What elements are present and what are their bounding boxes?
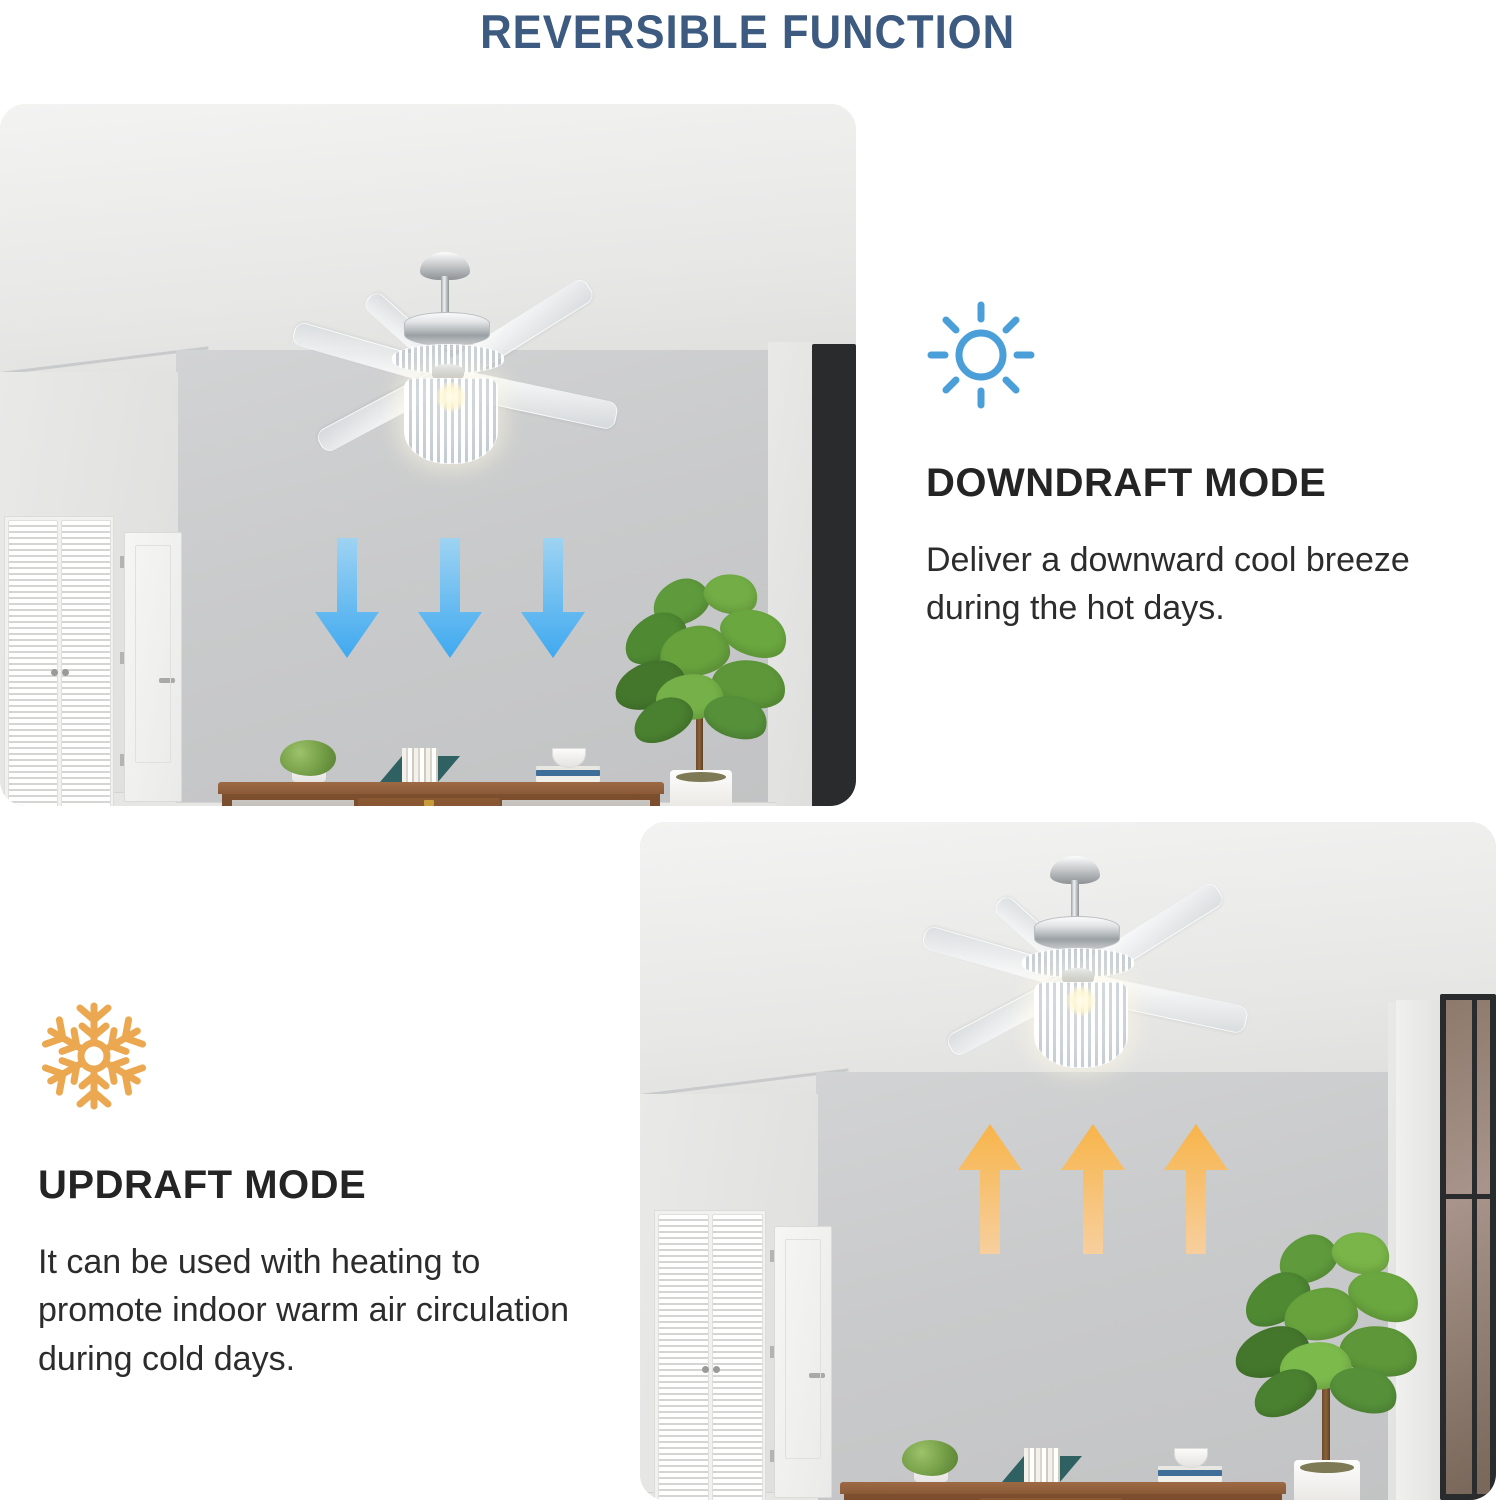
console-open-shelf-left — [232, 800, 354, 806]
closet-knob-right[interactable] — [713, 1366, 720, 1373]
window-mullion — [836, 344, 840, 806]
ceiling-fan — [300, 236, 730, 526]
bookend-left — [1002, 1456, 1024, 1482]
bookend-left — [380, 756, 402, 782]
walnut-console-table — [840, 1482, 1286, 1500]
fan-motor-housing — [404, 312, 490, 346]
louver-leaf-left — [8, 520, 58, 806]
door-hinge-mid — [770, 1346, 774, 1358]
upright-books — [402, 748, 438, 782]
downdraft-arrow-3 — [519, 538, 587, 660]
console-tabletop — [840, 1482, 1286, 1494]
panel-door — [124, 532, 182, 802]
downdraft-heading: DOWNDRAFT MODE — [926, 461, 1426, 506]
plant-soil — [1300, 1462, 1354, 1473]
louvered-closet-doors — [4, 516, 114, 806]
door-lever-handle[interactable] — [159, 678, 175, 683]
louver-leaf-right — [712, 1214, 763, 1500]
fan-motor-housing — [1034, 916, 1120, 950]
tabletop-greenery — [902, 1440, 958, 1476]
door-hinge-mid — [120, 652, 124, 664]
louver-leaf-right — [61, 520, 111, 806]
closet-knob-right[interactable] — [62, 669, 69, 676]
closet-knob-left[interactable] — [51, 669, 58, 676]
updraft-arrow-1 — [956, 1122, 1024, 1256]
bookend-right — [438, 756, 460, 782]
door-hinge-bottom — [120, 754, 124, 766]
updraft-heading: UPDRAFT MODE — [38, 1163, 578, 1208]
louvered-closet-doors — [654, 1210, 766, 1500]
updraft-arrow-3 — [1162, 1122, 1230, 1256]
door-hinge-bottom — [770, 1450, 774, 1462]
tabletop-book-stack — [536, 766, 600, 782]
fan-light-bulb-glow — [1066, 986, 1096, 1016]
room-scene-downdraft — [0, 104, 856, 806]
door-hinge-top — [120, 556, 124, 568]
louver-leaf-left — [658, 1214, 709, 1500]
closet-knob-left[interactable] — [702, 1366, 709, 1373]
window-frame — [1440, 994, 1496, 1500]
door-lever-handle[interactable] — [809, 1373, 825, 1378]
page-title-bar: REVERSIBLE FUNCTION — [0, 0, 1496, 62]
updraft-room-photo — [640, 822, 1496, 1500]
tabletop-greenery — [280, 740, 336, 776]
drawer-pull[interactable] — [424, 800, 434, 806]
console-tabletop — [218, 782, 664, 794]
updraft-info-block: UPDRAFT MODE It can be used with heating… — [38, 1000, 578, 1383]
upright-books — [1024, 1448, 1060, 1482]
downdraft-arrow-1 — [313, 538, 381, 660]
downdraft-body-text: Deliver a downward cool breeze during th… — [926, 536, 1426, 633]
console-open-shelf-right — [502, 800, 650, 806]
window-mullion-horizontal — [1440, 1194, 1496, 1199]
downdraft-arrow-2 — [416, 538, 484, 660]
snowflake-icon — [38, 1000, 578, 1117]
book — [1158, 1470, 1222, 1476]
bookend-right — [1060, 1456, 1082, 1482]
downdraft-room-photo — [0, 104, 856, 806]
door-hinge-top — [770, 1250, 774, 1262]
panel-door — [774, 1226, 832, 1498]
ceiling-fan — [930, 840, 1360, 1130]
sun-icon — [926, 300, 1426, 415]
book — [1158, 1476, 1222, 1482]
tabletop-book-stack — [1158, 1466, 1222, 1482]
fan-light-bulb-glow — [436, 382, 466, 412]
window-frame — [812, 344, 856, 806]
fiddle-leaf-fig — [1230, 1232, 1430, 1500]
fiddle-leaf-fig — [608, 574, 798, 806]
window-glass — [1446, 1000, 1490, 1494]
room-scene-updraft — [640, 822, 1496, 1500]
updraft-body-text: It can be used with heating to promote i… — [38, 1238, 578, 1383]
walnut-console-table — [218, 782, 664, 806]
updraft-arrow-2 — [1059, 1122, 1127, 1256]
plant-soil — [676, 772, 726, 782]
book — [536, 776, 600, 782]
page-title: REVERSIBLE FUNCTION — [481, 4, 1016, 59]
window-mullion-vertical — [1472, 994, 1477, 1500]
downdraft-info-block: DOWNDRAFT MODE Deliver a downward cool b… — [926, 300, 1426, 633]
book — [536, 770, 600, 776]
